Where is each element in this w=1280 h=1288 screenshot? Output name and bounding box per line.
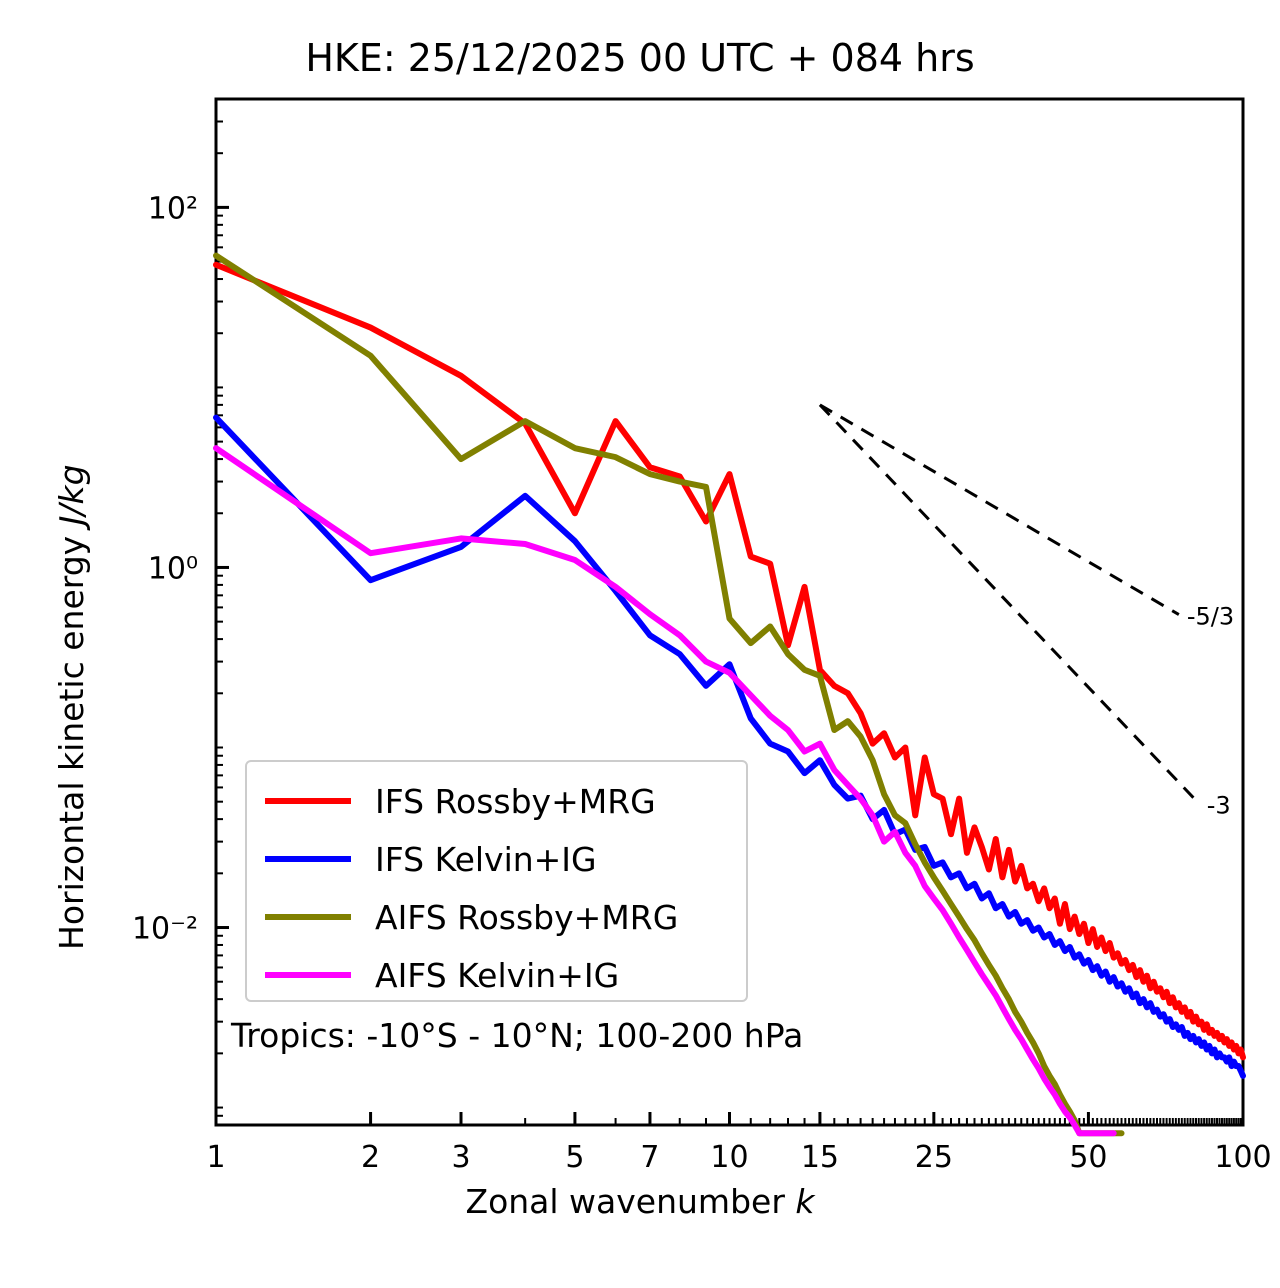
- svg-text:7: 7: [640, 1140, 659, 1175]
- legend-label-1: IFS Kelvin+IG: [375, 843, 597, 876]
- reference-slope-labels: -5/3-3: [1187, 603, 1234, 820]
- svg-text:2: 2: [361, 1140, 380, 1175]
- legend-item-0: IFS Rossby+MRG: [265, 772, 656, 830]
- svg-text:10²: 10²: [148, 191, 198, 226]
- svg-text:3: 3: [451, 1140, 470, 1175]
- legend-item-1: IFS Kelvin+IG: [265, 830, 597, 888]
- svg-text:50: 50: [1069, 1140, 1107, 1175]
- legend-item-2: AIFS Rossby+MRG: [265, 888, 678, 946]
- svg-text:10⁻²: 10⁻²: [132, 912, 198, 947]
- legend: IFS Rossby+MRG IFS Kelvin+IG AIFS Rossby…: [245, 760, 748, 1002]
- svg-text:-5/3: -5/3: [1187, 603, 1234, 631]
- svg-text:5: 5: [565, 1140, 584, 1175]
- legend-swatch-0: [265, 798, 351, 804]
- y-axis-ticks: 10²10⁰10⁻²: [132, 99, 229, 1125]
- legend-swatch-3: [265, 972, 351, 978]
- svg-text:25: 25: [915, 1140, 953, 1175]
- svg-text:15: 15: [801, 1140, 839, 1175]
- plot-canvas: 1235710152550100 10²10⁰10⁻² -5/3-3: [0, 0, 1280, 1288]
- legend-swatch-1: [265, 856, 351, 862]
- legend-label-0: IFS Rossby+MRG: [375, 785, 656, 818]
- figure-container: HKE: 25/12/2025 00 UTC + 084 hrs Horizon…: [0, 0, 1280, 1288]
- svg-text:1: 1: [206, 1140, 225, 1175]
- svg-text:10: 10: [710, 1140, 748, 1175]
- legend-item-3: AIFS Kelvin+IG: [265, 946, 619, 1004]
- region-annotation: Tropics: -10°S - 10°N; 100-200 hPa: [231, 1016, 803, 1055]
- legend-swatch-2: [265, 914, 351, 920]
- legend-label-3: AIFS Kelvin+IG: [375, 959, 619, 992]
- svg-text:10⁰: 10⁰: [148, 551, 198, 586]
- svg-text:100: 100: [1214, 1140, 1271, 1175]
- svg-text:-3: -3: [1207, 791, 1231, 819]
- x-axis-ticks: 1235710152550100: [206, 1112, 1271, 1175]
- legend-label-2: AIFS Rossby+MRG: [375, 901, 678, 934]
